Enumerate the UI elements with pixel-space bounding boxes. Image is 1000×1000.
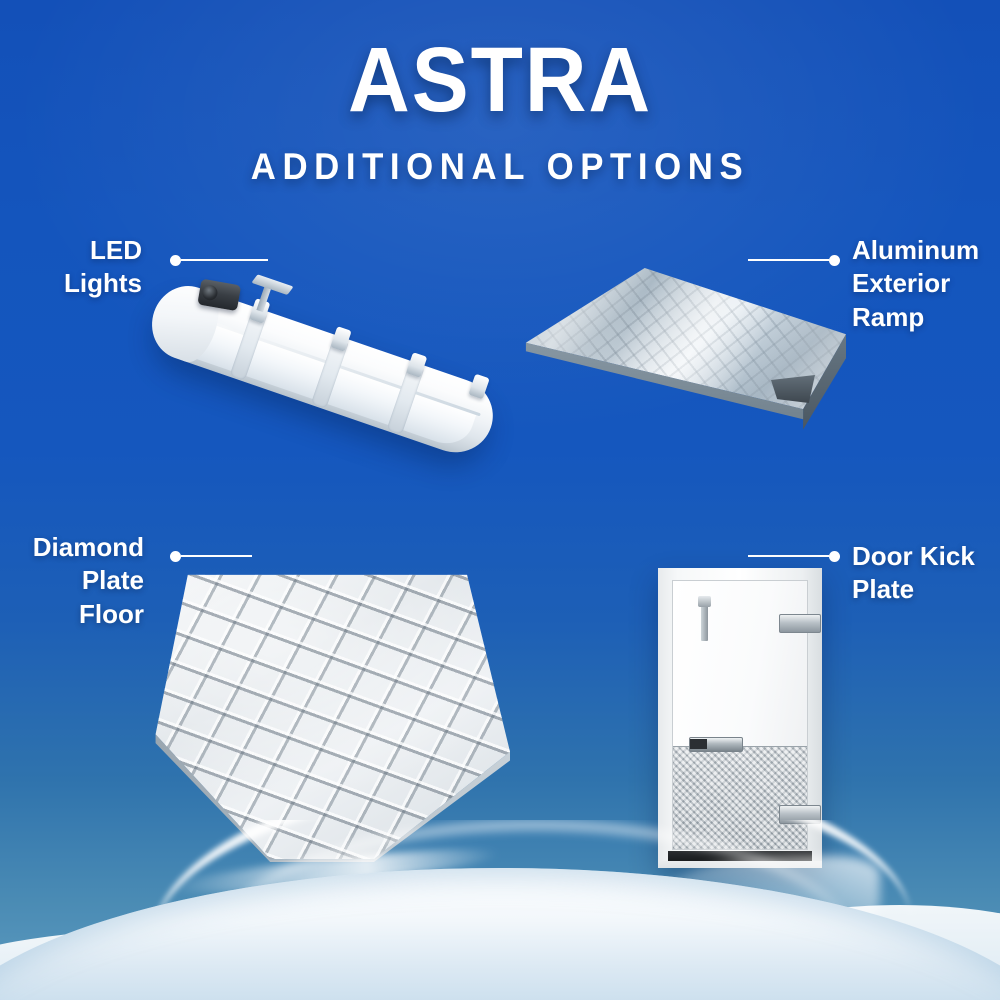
connector-door-kick-plate <box>748 550 840 562</box>
brand-title: ASTRA <box>35 34 965 126</box>
door-hinge-top <box>779 614 821 633</box>
connector-aluminum-exterior-ramp <box>748 254 840 266</box>
product-image-diamond-plate-floor <box>152 572 510 862</box>
connector-line-icon <box>181 259 268 261</box>
connector-dot-icon <box>829 551 840 562</box>
connector-dot-icon <box>829 255 840 266</box>
led-fixture-body <box>148 279 503 463</box>
door-handle <box>689 737 743 752</box>
callout-label-led-lights: LED Lights <box>14 234 142 301</box>
connector-dot-icon <box>170 551 181 562</box>
door-latch-rod <box>701 605 708 641</box>
door-hinge-bottom <box>779 805 821 824</box>
product-image-led-light <box>150 262 530 452</box>
callout-label-diamond-plate-floor: Diamond Plate Floor <box>2 531 144 631</box>
callout-label-aluminum-exterior-ramp: Aluminum Exterior Ramp <box>852 234 992 334</box>
snow-peak-left <box>0 930 500 1000</box>
poster-header: ASTRA ADDITIONAL OPTIONS <box>0 34 1000 188</box>
door-floor-strip <box>658 861 822 868</box>
connector-diamond-plate-floor <box>170 550 252 562</box>
product-image-aluminum-ramp <box>516 268 846 438</box>
led-hanger-plate <box>251 274 293 295</box>
door-kick-plate-panel <box>673 746 807 849</box>
poster-canvas: ASTRA ADDITIONAL OPTIONS LED Lights <box>0 0 1000 1000</box>
callout-label-door-kick-plate: Door Kick Plate <box>852 540 992 607</box>
snow-peak-main <box>0 868 1000 1000</box>
snow-peak-right <box>580 905 1000 1000</box>
floor-diamond-tread-pattern <box>152 572 510 862</box>
connector-line-icon <box>748 555 829 557</box>
connector-line-icon <box>181 555 252 557</box>
poster-subtitle: ADDITIONAL OPTIONS <box>30 146 970 188</box>
product-image-cooler-door <box>658 568 822 868</box>
cloud-tail-decor <box>650 856 880 946</box>
connector-line-icon <box>748 259 829 261</box>
